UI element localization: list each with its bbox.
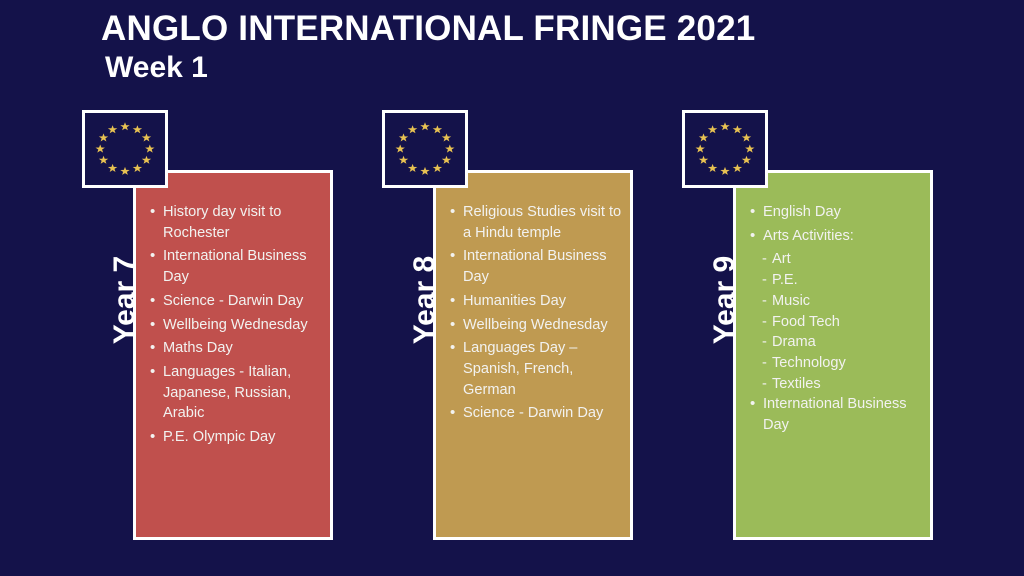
activity-list-year7: History day visit to RochesterInternatio… xyxy=(136,173,330,448)
list-item: History day visit to Rochester xyxy=(150,202,322,243)
list-item: Languages - Italian, Japanese, Russian, … xyxy=(150,362,322,424)
list-item: P.E. Olympic Day xyxy=(150,427,322,448)
eu-flag-icon xyxy=(682,110,768,188)
activity-list-year8: Religious Studies visit to a Hindu templ… xyxy=(436,173,630,424)
list-item: Arts Activities: xyxy=(750,226,922,247)
list-item: Art xyxy=(750,249,922,270)
eu-flag-icon xyxy=(382,110,468,188)
activity-list-year9: English DayArts Activities:ArtP.E.MusicF… xyxy=(736,173,930,436)
list-item: Music xyxy=(750,291,922,312)
list-item: Humanities Day xyxy=(450,291,622,312)
list-item: Textiles xyxy=(750,374,922,395)
list-item: Maths Day xyxy=(150,338,322,359)
list-item: Languages Day – Spanish, French, German xyxy=(450,338,622,400)
list-item: Science - Darwin Day xyxy=(450,403,622,424)
list-item: English Day xyxy=(750,202,922,223)
year-label-year7: Year 7 xyxy=(105,225,145,375)
activity-panel-year7: History day visit to RochesterInternatio… xyxy=(133,170,333,540)
list-item: Technology xyxy=(750,353,922,374)
list-item: Drama xyxy=(750,332,922,353)
year-label-year8: Year 8 xyxy=(405,225,445,375)
list-item: Religious Studies visit to a Hindu templ… xyxy=(450,202,622,243)
title-block: ANGLO INTERNATIONAL FRINGE 2021 Week 1 xyxy=(101,10,901,84)
list-item: International Business Day xyxy=(150,246,322,287)
list-item: Food Tech xyxy=(750,312,922,333)
list-item: Science - Darwin Day xyxy=(150,291,322,312)
page-title: ANGLO INTERNATIONAL FRINGE 2021 xyxy=(101,10,901,48)
list-item: Wellbeing Wednesday xyxy=(150,315,322,336)
list-item: International Business Day xyxy=(750,394,922,435)
activity-panel-year8: Religious Studies visit to a Hindu templ… xyxy=(433,170,633,540)
activity-panel-year9: English DayArts Activities:ArtP.E.MusicF… xyxy=(733,170,933,540)
list-item: International Business Day xyxy=(450,246,622,287)
year-label-year9: Year 9 xyxy=(705,225,745,375)
list-item: Wellbeing Wednesday xyxy=(450,315,622,336)
page-subtitle: Week 1 xyxy=(105,51,901,84)
eu-flag-icon xyxy=(82,110,168,188)
list-item: P.E. xyxy=(750,270,922,291)
